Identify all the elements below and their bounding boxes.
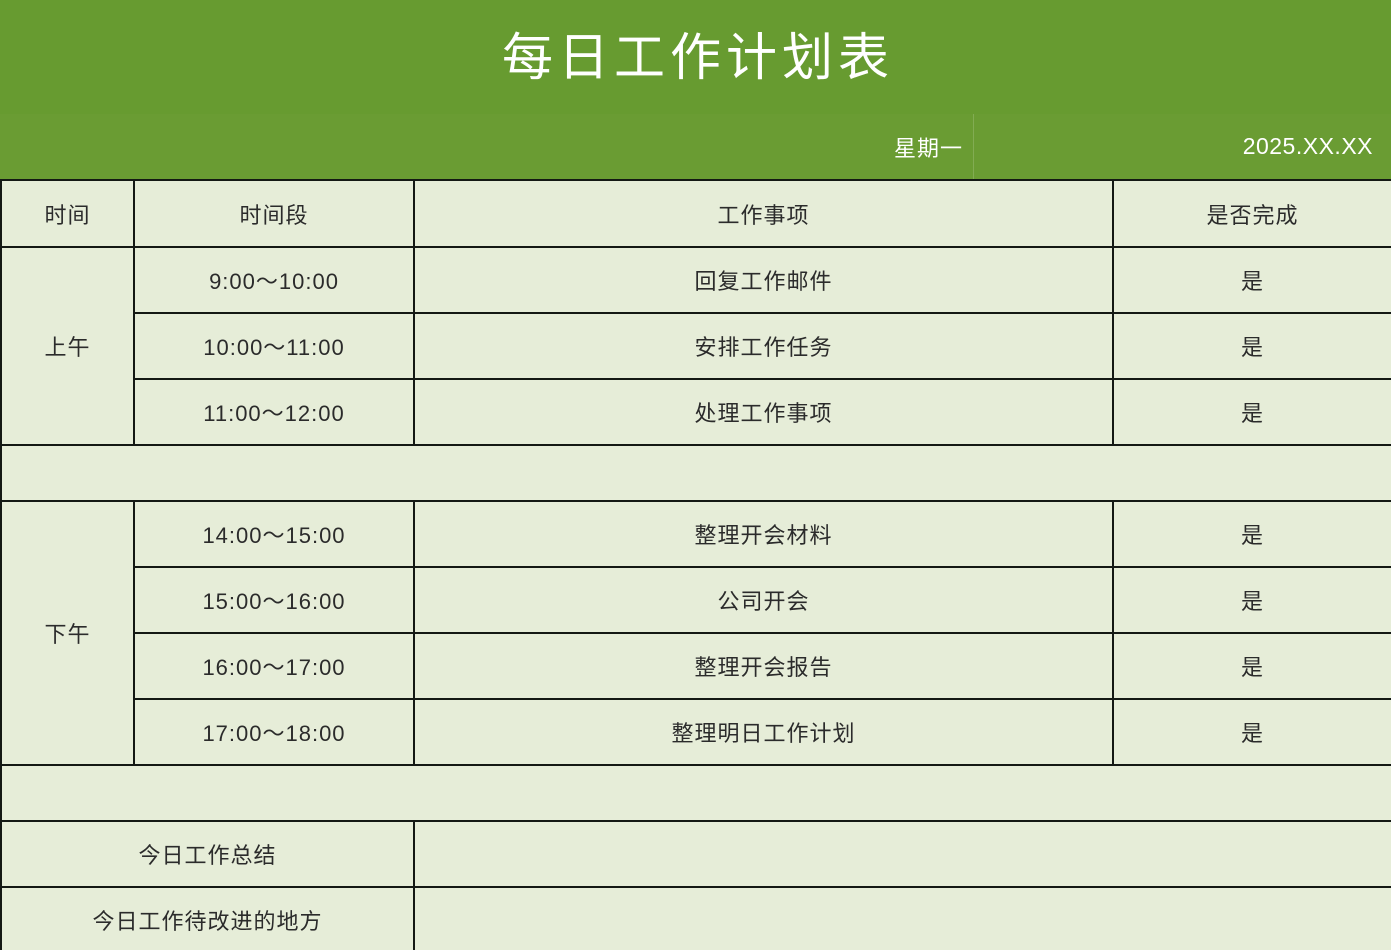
page-title: 每日工作计划表: [497, 32, 894, 83]
period-label-afternoon: 下午: [1, 501, 134, 765]
task-cell[interactable]: 整理开会报告: [414, 633, 1113, 699]
spacer-cell: [1, 445, 1391, 501]
done-cell[interactable]: 是: [1113, 633, 1391, 699]
column-header-task: 工作事项: [414, 180, 1113, 247]
date-label: 2025.XX.XX: [983, 133, 1373, 160]
done-cell[interactable]: 是: [1113, 567, 1391, 633]
period-label-morning: 上午: [1, 247, 134, 445]
spacer-row-evening: [1, 765, 1391, 821]
table-row[interactable]: 17:00～18:00 整理明日工作计划 是: [1, 699, 1391, 765]
summary-row-daily: 今日工作总结: [1, 821, 1391, 887]
table-row[interactable]: 下午 14:00～15:00 整理开会材料 是: [1, 501, 1391, 567]
table-row[interactable]: 11:00～12:00 处理工作事项 是: [1, 379, 1391, 445]
column-header-time: 时间: [1, 180, 134, 247]
meta-banner: 星期一 2025.XX.XX: [0, 114, 1391, 179]
task-cell[interactable]: 处理工作事项: [414, 379, 1113, 445]
table-row[interactable]: 15:00～16:00 公司开会 是: [1, 567, 1391, 633]
column-header-slot: 时间段: [134, 180, 414, 247]
table-row[interactable]: 16:00～17:00 整理开会报告 是: [1, 633, 1391, 699]
summary-label: 今日工作总结: [1, 821, 414, 887]
slot-cell[interactable]: 16:00～17:00: [134, 633, 414, 699]
task-cell[interactable]: 安排工作任务: [414, 313, 1113, 379]
slot-cell[interactable]: 10:00～11:00: [134, 313, 414, 379]
table-header-row: 时间 时间段 工作事项 是否完成: [1, 180, 1391, 247]
done-cell[interactable]: 是: [1113, 699, 1391, 765]
schedule-table: 时间 时间段 工作事项 是否完成 上午 9:00～10:00 回复工作邮件 是 …: [0, 179, 1391, 950]
slot-cell[interactable]: 9:00～10:00: [134, 247, 414, 313]
task-cell[interactable]: 回复工作邮件: [414, 247, 1113, 313]
summary-value-field[interactable]: [414, 887, 1391, 950]
table-row[interactable]: 上午 9:00～10:00 回复工作邮件 是: [1, 247, 1391, 313]
spacer-row-midday: [1, 445, 1391, 501]
done-cell[interactable]: 是: [1113, 247, 1391, 313]
task-cell[interactable]: 整理明日工作计划: [414, 699, 1113, 765]
summary-value-field[interactable]: [414, 821, 1391, 887]
done-cell[interactable]: 是: [1113, 313, 1391, 379]
schedule-table-wrap: 时间 时间段 工作事项 是否完成 上午 9:00～10:00 回复工作邮件 是 …: [0, 179, 1391, 950]
title-banner: 每日工作计划表: [0, 0, 1391, 114]
column-header-done: 是否完成: [1113, 180, 1391, 247]
task-cell[interactable]: 公司开会: [414, 567, 1113, 633]
summary-label: 今日工作待改进的地方: [1, 887, 414, 950]
table-row[interactable]: 10:00～11:00 安排工作任务 是: [1, 313, 1391, 379]
slot-cell[interactable]: 14:00～15:00: [134, 501, 414, 567]
task-cell[interactable]: 整理开会材料: [414, 501, 1113, 567]
summary-row-improvement: 今日工作待改进的地方: [1, 887, 1391, 950]
slot-cell[interactable]: 17:00～18:00: [134, 699, 414, 765]
spacer-cell: [1, 765, 1391, 821]
slot-cell[interactable]: 11:00～12:00: [134, 379, 414, 445]
done-cell[interactable]: 是: [1113, 379, 1391, 445]
weekday-label: 星期一: [0, 131, 963, 163]
daily-work-plan-page: 每日工作计划表 星期一 2025.XX.XX 时间 时间段 工作事项 是否完成 …: [0, 0, 1391, 950]
done-cell[interactable]: 是: [1113, 501, 1391, 567]
slot-cell[interactable]: 15:00～16:00: [134, 567, 414, 633]
meta-divider: [973, 114, 974, 179]
